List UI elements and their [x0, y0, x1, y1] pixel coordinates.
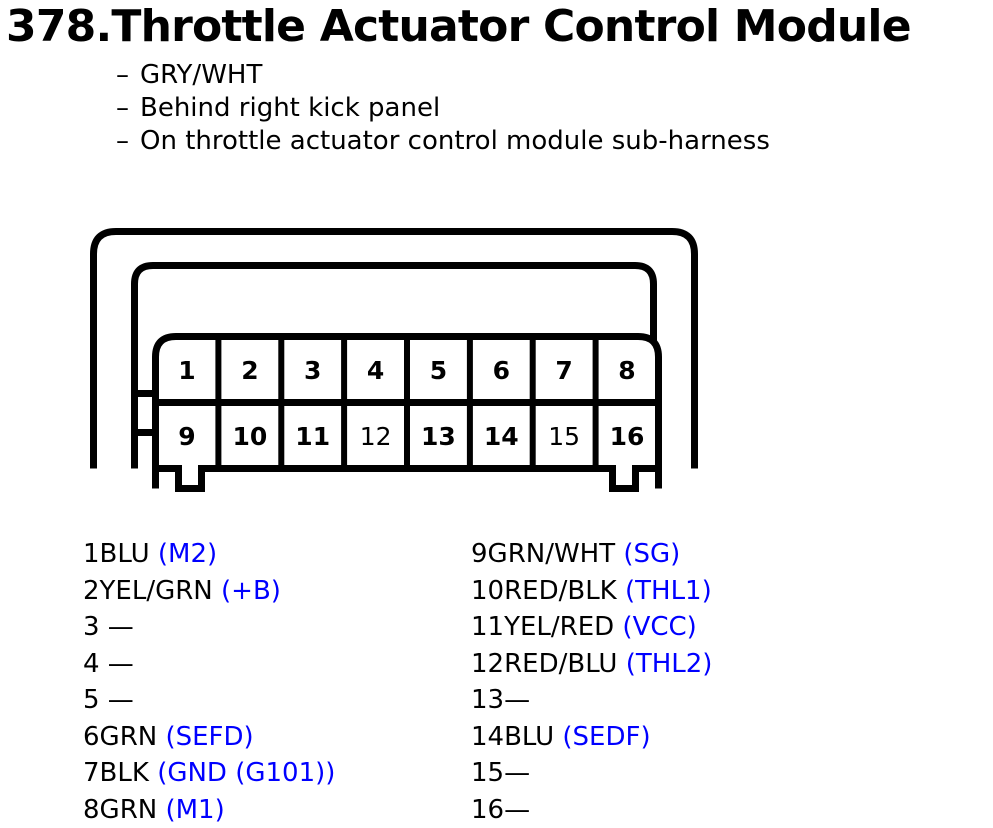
- pin-wire: 3 —: [83, 612, 134, 642]
- pin-list-left: 1BLU (M2) 2YEL/GRN (+B) 3 — 4 — 5 — 6GRN…: [83, 536, 335, 828]
- pin-wire: 10RED/BLK: [471, 576, 625, 606]
- pin-signal: (THL1): [625, 576, 712, 606]
- pin-signal: (M2): [158, 539, 217, 569]
- pin-number: 5: [430, 356, 447, 385]
- pin-number: 11: [295, 422, 330, 451]
- pin-wire: 2YEL/GRN: [83, 576, 221, 606]
- pin-entry: 15—: [471, 755, 712, 792]
- pin-entry: 7BLK (GND (G101)): [83, 755, 335, 792]
- pin-wire: 15—: [471, 758, 530, 788]
- pin-signal: (VCC): [622, 612, 696, 642]
- pin-signal: (SEFD): [165, 722, 253, 752]
- pin-number: 6: [493, 356, 510, 385]
- pin-number: 3: [304, 356, 321, 385]
- pin-signal: (THL2): [626, 649, 713, 679]
- pin-wire: 13—: [471, 685, 530, 715]
- pin-number: 1: [178, 356, 195, 385]
- dash-icon: –: [116, 125, 140, 158]
- notes-list: – GRY/WHT – Behind right kick panel – On…: [116, 59, 976, 158]
- pin-number: 2: [241, 356, 258, 385]
- pin-number: 16: [610, 422, 645, 451]
- connector-diagram: 1 2 3 4 5 6 7 8 9 10 11 12 13 14 15 16: [60, 205, 740, 505]
- pin-entry: 8GRN (M1): [83, 792, 335, 828]
- pin-entry: 11YEL/RED (VCC): [471, 609, 712, 646]
- pin-number: 4: [367, 356, 384, 385]
- note-text: On throttle actuator control module sub-…: [140, 125, 770, 158]
- dash-icon: –: [116, 59, 140, 92]
- note-item: – On throttle actuator control module su…: [116, 125, 976, 158]
- dash-icon: –: [116, 92, 140, 125]
- pin-signal: (GND (G101)): [157, 758, 335, 788]
- page-title: 378.Throttle Actuator Control Module: [6, 3, 991, 51]
- pin-wire: 6GRN: [83, 722, 165, 752]
- pin-number: 15: [548, 422, 580, 451]
- pin-wire: 9GRN/WHT: [471, 539, 623, 569]
- pin-signal: (+B): [221, 576, 281, 606]
- pin-wire: 16—: [471, 795, 530, 825]
- pin-wire: 4 —: [83, 649, 134, 679]
- pin-number: 7: [555, 356, 572, 385]
- pin-entry: 9GRN/WHT (SG): [471, 536, 712, 573]
- pin-number: 9: [178, 422, 195, 451]
- pin-number: 14: [484, 422, 519, 451]
- note-item: – Behind right kick panel: [116, 92, 976, 125]
- pin-entry: 4 —: [83, 646, 335, 683]
- note-item: – GRY/WHT: [116, 59, 976, 92]
- pin-signal: (M1): [165, 795, 224, 825]
- pin-wire: 5 —: [83, 685, 134, 715]
- pin-number: 8: [618, 356, 635, 385]
- pin-entry: 1BLU (M2): [83, 536, 335, 573]
- pin-wire: 7BLK: [83, 758, 157, 788]
- pin-entry: 6GRN (SEFD): [83, 719, 335, 756]
- pin-signal: (SEDF): [562, 722, 650, 752]
- pin-entry: 13—: [471, 682, 712, 719]
- pin-entry: 12RED/BLU (THL2): [471, 646, 712, 683]
- pin-wire: 11YEL/RED: [471, 612, 622, 642]
- pin-number: 13: [421, 422, 456, 451]
- note-text: Behind right kick panel: [140, 92, 440, 125]
- pin-entry: 2YEL/GRN (+B): [83, 573, 335, 610]
- pin-list-right: 9GRN/WHT (SG) 10RED/BLK (THL1) 11YEL/RED…: [471, 536, 712, 828]
- pin-wire: 14BLU: [471, 722, 562, 752]
- pin-wire: 8GRN: [83, 795, 165, 825]
- pin-entry: 16—: [471, 792, 712, 828]
- pin-wire: 1BLU: [83, 539, 158, 569]
- pin-wire: 12RED/BLU: [471, 649, 626, 679]
- note-text: GRY/WHT: [140, 59, 262, 92]
- pin-entry: 14BLU (SEDF): [471, 719, 712, 756]
- pin-entry: 10RED/BLK (THL1): [471, 573, 712, 610]
- pin-number: 12: [360, 422, 392, 451]
- pin-entry: 5 —: [83, 682, 335, 719]
- pin-signal: (SG): [623, 539, 680, 569]
- pin-entry: 3 —: [83, 609, 335, 646]
- pin-number: 10: [233, 422, 268, 451]
